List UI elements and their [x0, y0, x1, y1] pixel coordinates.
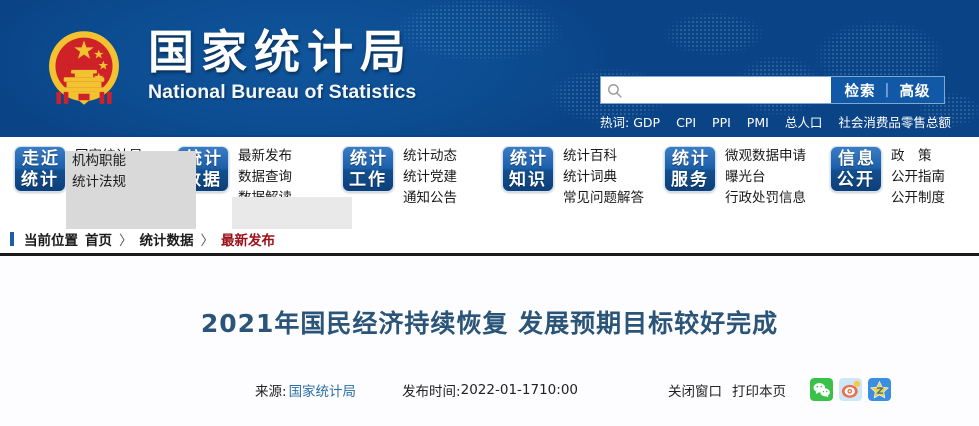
nav-group-statistical-work[interactable]: 统计 工作 统计动态 统计党建 通知公告	[342, 146, 457, 208]
article-publish-time: 10:00	[539, 382, 578, 398]
nav-button-line2: 工作	[349, 170, 387, 190]
site-brand[interactable]: 国家统计局 National Bureau of Statistics	[38, 22, 416, 114]
search-field[interactable]	[601, 77, 831, 103]
article-title: 2021年国民经济持续恢复 发展预期目标较好完成	[0, 304, 979, 340]
nav-button-line2: 服务	[671, 170, 709, 190]
nav-button-statistical-knowledge[interactable]: 统计 知识	[502, 146, 554, 192]
article-source-value: 国家统计局	[289, 380, 357, 400]
weibo-share-icon[interactable]	[839, 378, 862, 401]
breadcrumb-bar: 当前位置 首页 〉 统计数据 〉 最新发布	[0, 227, 979, 256]
breadcrumb-separator: 〉	[119, 229, 133, 249]
nav-link-faq[interactable]: 常见问题解答	[563, 189, 644, 208]
nav-button-statistical-work[interactable]: 统计 工作	[342, 146, 394, 192]
nav-link-microdata-application[interactable]: 微观数据申请	[725, 147, 806, 166]
nav-links-information-disclosure: 政 策 公开指南 公开制度	[891, 146, 945, 208]
nav-button-line1: 走近	[22, 149, 60, 169]
nav-link-disclosure-guide[interactable]: 公开指南	[891, 168, 945, 187]
nav-button-statistical-service[interactable]: 统计 服务	[664, 146, 716, 192]
hotword-population[interactable]: 总人口	[785, 112, 823, 131]
nav-button-line1: 统计	[672, 149, 710, 169]
close-window-link[interactable]: 关闭窗口	[668, 380, 722, 400]
breadcrumb-item-home[interactable]: 首页	[85, 229, 112, 249]
search-buttons[interactable]: 检索 | 高级	[831, 77, 944, 103]
nav-dropdown-panel-approach-statistics[interactable]: 机构职能 统计法规	[66, 151, 196, 229]
article-meta: 来源: 国家统计局 发布时间: 2022-01-17 10:00 关闭窗口 打印…	[0, 378, 979, 406]
article-meta-left: 来源: 国家统计局 发布时间: 2022-01-17 10:00	[255, 380, 578, 400]
search-bar[interactable]: 检索 | 高级	[600, 76, 945, 104]
nav-button-line2: 知识	[509, 170, 547, 190]
nav-dropdown-link-functions[interactable]: 机构职能	[72, 152, 196, 171]
nav-button-approach-statistics[interactable]: 走近 统计	[14, 146, 66, 192]
breadcrumb-item-statistical-data[interactable]: 统计数据	[140, 229, 194, 249]
nav-link-announcements[interactable]: 通知公告	[403, 189, 457, 208]
breadcrumb-current: 最新发布	[221, 229, 275, 249]
nav-dropdown-links: 机构职能 统计法规	[66, 151, 196, 192]
nav-button-line2: 统计	[21, 170, 59, 190]
search-input[interactable]	[623, 79, 831, 101]
breadcrumb-label: 当前位置	[24, 229, 78, 249]
nav-link-penalty-information[interactable]: 行政处罚信息	[725, 189, 806, 208]
print-page-link[interactable]: 打印本页	[732, 380, 786, 400]
national-emblem-icon	[38, 22, 130, 114]
nav-dropdown-link-regulations[interactable]: 统计法规	[72, 173, 196, 192]
nav-group-statistical-service[interactable]: 统计 服务 微观数据申请 曝光台 行政处罚信息	[664, 146, 806, 208]
nav-group-information-disclosure[interactable]: 信息 公开 政 策 公开指南 公开制度	[830, 146, 945, 208]
nav-button-line1: 统计	[510, 149, 548, 169]
hotwords-row: 热词: GDP CPI PPI PMI 总人口 社会消费品零售总额	[600, 112, 951, 131]
nav-button-information-disclosure[interactable]: 信息 公开	[830, 146, 882, 192]
article-publish-date: 2022-01-17	[461, 382, 539, 398]
hotword-cpi[interactable]: CPI	[676, 115, 696, 130]
main-navigation: 走近 统计 国家统计局 派驻纪检组 统计 数据 最新发布 数据查询 数据解读 统…	[0, 135, 979, 227]
favorites-star-icon[interactable]	[868, 378, 891, 401]
nav-dropdown-panel-secondary	[232, 197, 352, 229]
search-separator: |	[885, 82, 891, 98]
nav-link-disclosure-system[interactable]: 公开制度	[891, 189, 945, 208]
nav-button-line1: 统计	[350, 149, 388, 169]
hotword-retail-sales[interactable]: 社会消费品零售总额	[838, 112, 951, 131]
article-actions: 关闭窗口 打印本页	[668, 378, 891, 401]
search-icon	[606, 82, 623, 99]
article-source-label: 来源:	[255, 380, 287, 400]
nav-link-latest-releases[interactable]: 最新发布	[238, 147, 292, 166]
nav-link-statistical-news[interactable]: 统计动态	[403, 147, 457, 166]
breadcrumb-marker-icon	[10, 232, 14, 246]
nav-links-statistical-service: 微观数据申请 曝光台 行政处罚信息	[725, 146, 806, 208]
nav-link-policy[interactable]: 政 策	[891, 147, 945, 166]
nav-links-statistical-work: 统计动态 统计党建 通知公告	[403, 146, 457, 208]
hotword-gdp[interactable]: GDP	[633, 115, 660, 130]
share-icons	[810, 378, 891, 401]
advanced-search-button[interactable]: 高级	[899, 80, 930, 101]
nav-link-dictionary[interactable]: 统计词典	[563, 168, 644, 187]
nav-link-data-query[interactable]: 数据查询	[238, 168, 292, 187]
article-publish-label: 发布时间:	[402, 380, 461, 400]
nav-link-encyclopedia[interactable]: 统计百科	[563, 147, 644, 166]
nav-button-line1: 信息	[838, 149, 876, 169]
nav-group-statistical-knowledge[interactable]: 统计 知识 统计百科 统计词典 常见问题解答	[502, 146, 644, 208]
site-name-cn: 国家统计局	[148, 28, 416, 77]
hotword-pmi[interactable]: PMI	[747, 115, 769, 130]
search-submit-button[interactable]: 检索	[845, 80, 876, 101]
breadcrumb: 当前位置 首页 〉 统计数据 〉 最新发布	[10, 229, 275, 249]
nav-links-statistical-knowledge: 统计百科 统计词典 常见问题解答	[563, 146, 644, 208]
hotword-ppi[interactable]: PPI	[712, 115, 731, 130]
wechat-share-icon[interactable]	[810, 378, 833, 401]
site-name-en: National Bureau of Statistics	[148, 81, 416, 104]
site-header: 国家统计局 National Bureau of Statistics 检索 |…	[0, 0, 979, 135]
breadcrumb-separator-2: 〉	[201, 229, 215, 249]
nav-link-exposure-platform[interactable]: 曝光台	[725, 168, 806, 187]
hotwords-label: 热词:	[600, 112, 629, 131]
nav-link-party-building[interactable]: 统计党建	[403, 168, 457, 187]
nav-button-line2: 公开	[837, 170, 875, 190]
article-container: 2021年国民经济持续恢复 发展预期目标较好完成 来源: 国家统计局 发布时间:…	[0, 256, 979, 426]
